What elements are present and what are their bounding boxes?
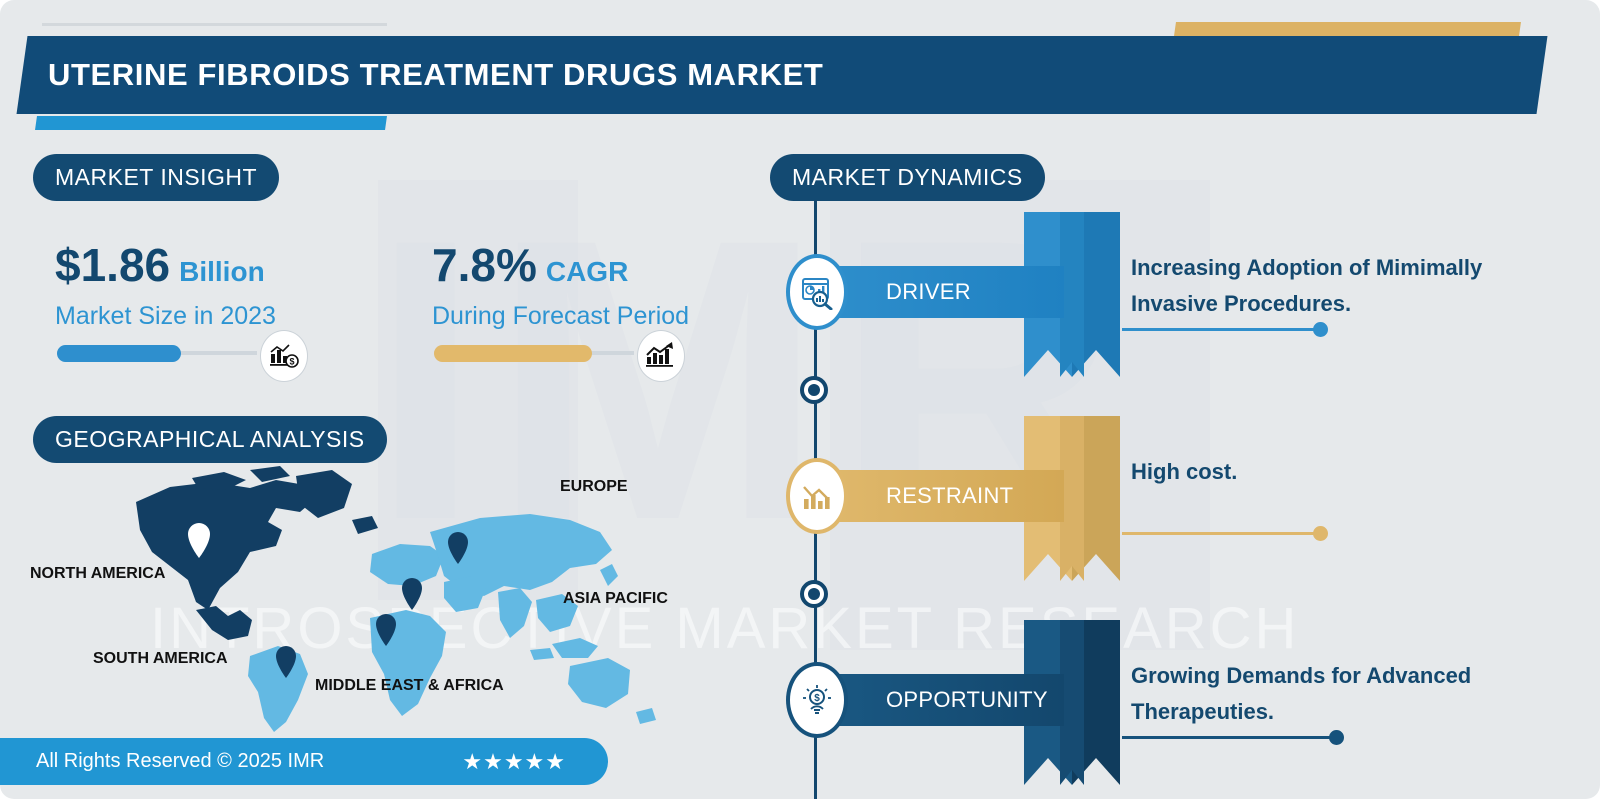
svg-text:$: $ (814, 693, 820, 704)
map-pin-asia-pacific (402, 578, 422, 610)
declining-bar-chart-icon (786, 458, 848, 534)
dynamics-text-restraint: High cost. (1131, 454, 1551, 490)
map-label-north-america: NORTH AMERICA (30, 565, 165, 583)
bar-chart-dollar-icon: $ (260, 330, 308, 382)
dynamics-label-opportunity: OPPORTUNITY (812, 674, 1064, 726)
header-blue-underbar (35, 116, 387, 130)
dashboard-magnifier-icon (786, 254, 848, 330)
dynamics-text-opportunity: Growing Demands for Advanced Therapeutie… (1131, 658, 1551, 729)
stat-cagr-value: 7.8% (432, 238, 537, 292)
dynamics-leader-line-restraint (1122, 532, 1322, 535)
dynamics-text-driver: Increasing Adoption of Mimimally Invasiv… (1131, 250, 1551, 321)
rating-stars: ★★★★★ (462, 749, 566, 775)
map-label-asia-pacific: ASIA PACIFIC (563, 590, 668, 608)
leader-end-dot (1313, 322, 1328, 337)
progress-fill (434, 345, 592, 362)
stat-market-size-label: Market Size in 2023 (55, 302, 276, 331)
copyright-text: All Rights Reserved © 2025 IMR (36, 750, 324, 773)
lightbulb-dollar-icon: $ (786, 662, 848, 738)
market-insight-heading: MARKET INSIGHT (33, 154, 279, 201)
page-title: UTERINE FIBROIDS TREATMENT DRUGS MARKET (48, 36, 1508, 114)
geographical-analysis-heading: GEOGRAPHICAL ANALYSIS (33, 416, 387, 463)
stat-market-size-unit: Billion (179, 256, 265, 288)
dynamics-leader-line-driver (1122, 328, 1322, 331)
dynamics-leader-line-opportunity (1122, 736, 1338, 739)
header-thin-rule (42, 23, 387, 26)
map-label-south-america: SOUTH AMERICA (93, 650, 228, 668)
map-label-middle-east-africa: MIDDLE EAST & AFRICA (315, 677, 504, 695)
stat-market-size-value: $1.86 (55, 238, 170, 292)
svg-text:$: $ (289, 357, 294, 367)
leader-end-dot (1329, 730, 1344, 745)
market-dynamics-heading: MARKET DYNAMICS (770, 154, 1045, 201)
infographic-canvas: IMR INTROSPECTIVE MARKET RESEARCH UTERIN… (0, 0, 1600, 799)
stat-market-size: $1.86Billion Market Size in 2023 (55, 238, 276, 331)
dynamics-label-driver: DRIVER (812, 266, 1064, 318)
leader-end-dot (1313, 526, 1328, 541)
map-label-europe: EUROPE (560, 478, 628, 496)
timeline-node-icon (800, 580, 828, 608)
header-gold-accent (1174, 22, 1521, 36)
stat-cagr: 7.8%CAGR During Forecast Period (432, 238, 689, 331)
growth-chart-arrow-icon (637, 330, 685, 382)
timeline-node-icon (800, 376, 828, 404)
stat-cagr-label: During Forecast Period (432, 302, 689, 331)
stat-cagr-unit: CAGR (546, 256, 628, 288)
progress-fill (57, 345, 181, 362)
dynamics-label-restraint: RESTRAINT (812, 470, 1064, 522)
footer-bar: All Rights Reserved © 2025 IMR ★★★★★ (0, 738, 608, 785)
